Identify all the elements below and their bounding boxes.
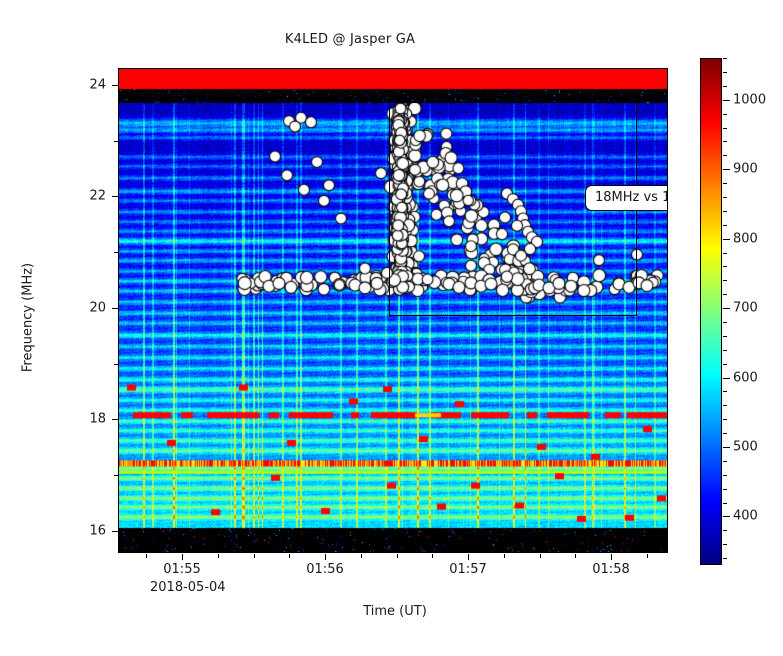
colorbar-tick [723, 308, 730, 309]
colorbar-gradient [701, 59, 721, 564]
x-axis-date-label: 2018-05-04 [150, 580, 226, 595]
x-axis-minor-tick [397, 554, 398, 558]
y-axis-tick [112, 85, 118, 86]
colorbar-tick-label: 600 [733, 370, 758, 385]
colorbar-minor-tick [723, 128, 727, 129]
x-axis-tick-label: 01:58 [592, 562, 629, 577]
colorbar-minor-tick [723, 58, 727, 59]
colorbar-minor-tick [723, 336, 727, 337]
colorbar-minor-tick [723, 503, 727, 504]
colorbar[interactable] [700, 58, 722, 565]
figure-canvas: K4LED @ Jasper GA Frequency (MHz) Time (… [0, 0, 783, 656]
colorbar-tick-label: 700 [733, 301, 758, 316]
colorbar-minor-tick [723, 350, 727, 351]
colorbar-minor-tick [723, 475, 727, 476]
x-axis-tick-label: 01:57 [449, 562, 486, 577]
y-axis-tick-label: 22 [66, 189, 106, 204]
x-axis-tick-label: 01:55 [163, 562, 200, 577]
x-axis-minor-tick [647, 554, 648, 558]
colorbar-minor-tick [723, 294, 727, 295]
y-axis-minor-tick [114, 364, 118, 365]
colorbar-minor-tick [723, 364, 727, 365]
colorbar-minor-tick [723, 86, 727, 87]
colorbar-minor-tick [723, 211, 727, 212]
x-axis-minor-tick [146, 554, 147, 558]
y-axis-tick-label: 16 [66, 523, 106, 538]
x-axis-tick-label: 01:56 [306, 562, 343, 577]
colorbar-minor-tick [723, 155, 727, 156]
x-axis-minor-tick [575, 554, 576, 558]
colorbar-minor-tick [723, 544, 727, 545]
colorbar-tick-label: 800 [733, 231, 758, 246]
x-axis-tick [611, 554, 612, 560]
x-axis-minor-tick [289, 554, 290, 558]
colorbar-tick [723, 516, 730, 517]
colorbar-minor-tick [723, 253, 727, 254]
colorbar-tick-label: 400 [733, 509, 758, 524]
colorbar-minor-tick [723, 225, 727, 226]
y-axis-tick [112, 531, 118, 532]
x-axis-label: Time (UT) [260, 604, 530, 619]
colorbar-minor-tick [723, 72, 727, 73]
y-axis-tick [112, 419, 118, 420]
colorbar-tick [723, 447, 730, 448]
x-axis-minor-tick [432, 554, 433, 558]
y-axis-tick-label: 24 [66, 77, 106, 92]
y-axis-tick-label: 20 [66, 300, 106, 315]
colorbar-minor-tick [723, 530, 727, 531]
colorbar-minor-tick [723, 419, 727, 420]
colorbar-minor-tick [723, 322, 727, 323]
colorbar-minor-tick [723, 405, 727, 406]
colorbar-tick-label: 500 [733, 439, 758, 454]
x-axis-tick [182, 554, 183, 560]
colorbar-minor-tick [723, 391, 727, 392]
x-axis-minor-tick [254, 554, 255, 558]
colorbar-minor-tick [723, 266, 727, 267]
x-axis-tick [468, 554, 469, 560]
colorbar-tick [723, 378, 730, 379]
colorbar-minor-tick [723, 461, 727, 462]
colorbar-minor-tick [723, 280, 727, 281]
y-axis-tick-label: 18 [66, 412, 106, 427]
y-axis-tick [112, 308, 118, 309]
page-title: K4LED @ Jasper GA [0, 32, 700, 47]
y-axis-minor-tick [114, 141, 118, 142]
colorbar-tick [723, 169, 730, 170]
annotation-label: 18MHz vs 16MHz [585, 185, 668, 211]
scatter-overlay [119, 69, 667, 552]
y-axis-minor-tick [114, 475, 118, 476]
x-axis-minor-tick [218, 554, 219, 558]
y-axis-minor-tick [114, 252, 118, 253]
colorbar-minor-tick [723, 489, 727, 490]
colorbar-minor-tick [723, 141, 727, 142]
x-axis-minor-tick [504, 554, 505, 558]
colorbar-tick [723, 100, 730, 101]
x-axis-minor-tick [540, 554, 541, 558]
x-axis-tick [325, 554, 326, 560]
colorbar-tick-label: 900 [733, 162, 758, 177]
y-axis-tick [112, 196, 118, 197]
spectrogram-plot-area[interactable]: 18MHz vs 16MHz [118, 68, 668, 553]
colorbar-tick-label: 1000 [733, 92, 766, 107]
colorbar-tick [723, 239, 730, 240]
x-axis-minor-tick [361, 554, 362, 558]
colorbar-minor-tick [723, 558, 727, 559]
colorbar-minor-tick [723, 197, 727, 198]
colorbar-minor-tick [723, 183, 727, 184]
colorbar-minor-tick [723, 433, 727, 434]
colorbar-minor-tick [723, 114, 727, 115]
y-axis-label: Frequency (MHz) [21, 228, 36, 408]
